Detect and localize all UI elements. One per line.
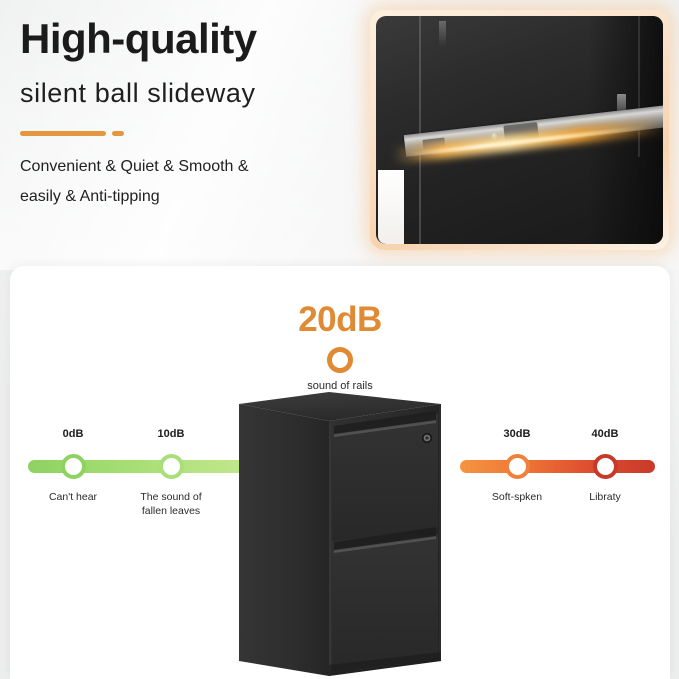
callout-value: 20dB — [10, 302, 670, 337]
scale-label-10db: The sound offallen leaves — [111, 490, 231, 518]
accent-rule — [20, 131, 350, 136]
scale-label-40db: Libraty — [545, 490, 665, 504]
slide-rail-photo — [376, 16, 663, 244]
scale-node-0db — [61, 454, 86, 479]
accent-rule-long — [20, 131, 106, 136]
drawer-hook-icon — [439, 21, 446, 47]
cabinet-panel-seam-left — [419, 16, 421, 244]
cabinet-side-panel — [239, 404, 329, 676]
scale-track-loud — [460, 460, 655, 473]
scale-node-30db — [505, 454, 530, 479]
headline-block: High-quality silent ball slideway Conven… — [20, 16, 350, 211]
page-subtitle: silent ball slideway — [20, 79, 350, 109]
scale-value-30db: 30dB — [477, 428, 557, 440]
drawer-front-sliver — [378, 170, 404, 244]
slide-rail-photo-frame — [370, 10, 669, 250]
scale-value-0db: 0dB — [33, 428, 113, 440]
scale-value-10db: 10dB — [131, 428, 211, 440]
scale-node-10db — [159, 454, 184, 479]
page-title: High-quality — [20, 16, 350, 61]
feature-description: Convenient & Quiet & Smooth & easily & A… — [20, 152, 350, 211]
callout-ring-icon — [327, 347, 353, 373]
scale-node-40db — [593, 454, 618, 479]
scale-value-40db: 40dB — [565, 428, 645, 440]
accent-rule-short — [112, 131, 124, 136]
filing-cabinet-illustration — [230, 390, 450, 679]
feature-description-line-2: easily & Anti-tipping — [20, 182, 350, 212]
cabinet-drawer-bottom — [332, 534, 438, 671]
infographic-page: High-quality silent ball slideway Conven… — [0, 0, 679, 679]
rail-latch-icon — [617, 94, 626, 112]
feature-description-line-1: Convenient & Quiet & Smooth & — [20, 152, 350, 182]
rail-noise-callout: 20dB sound of rails — [10, 302, 670, 392]
cabinet-panel-seam-right — [638, 16, 640, 157]
